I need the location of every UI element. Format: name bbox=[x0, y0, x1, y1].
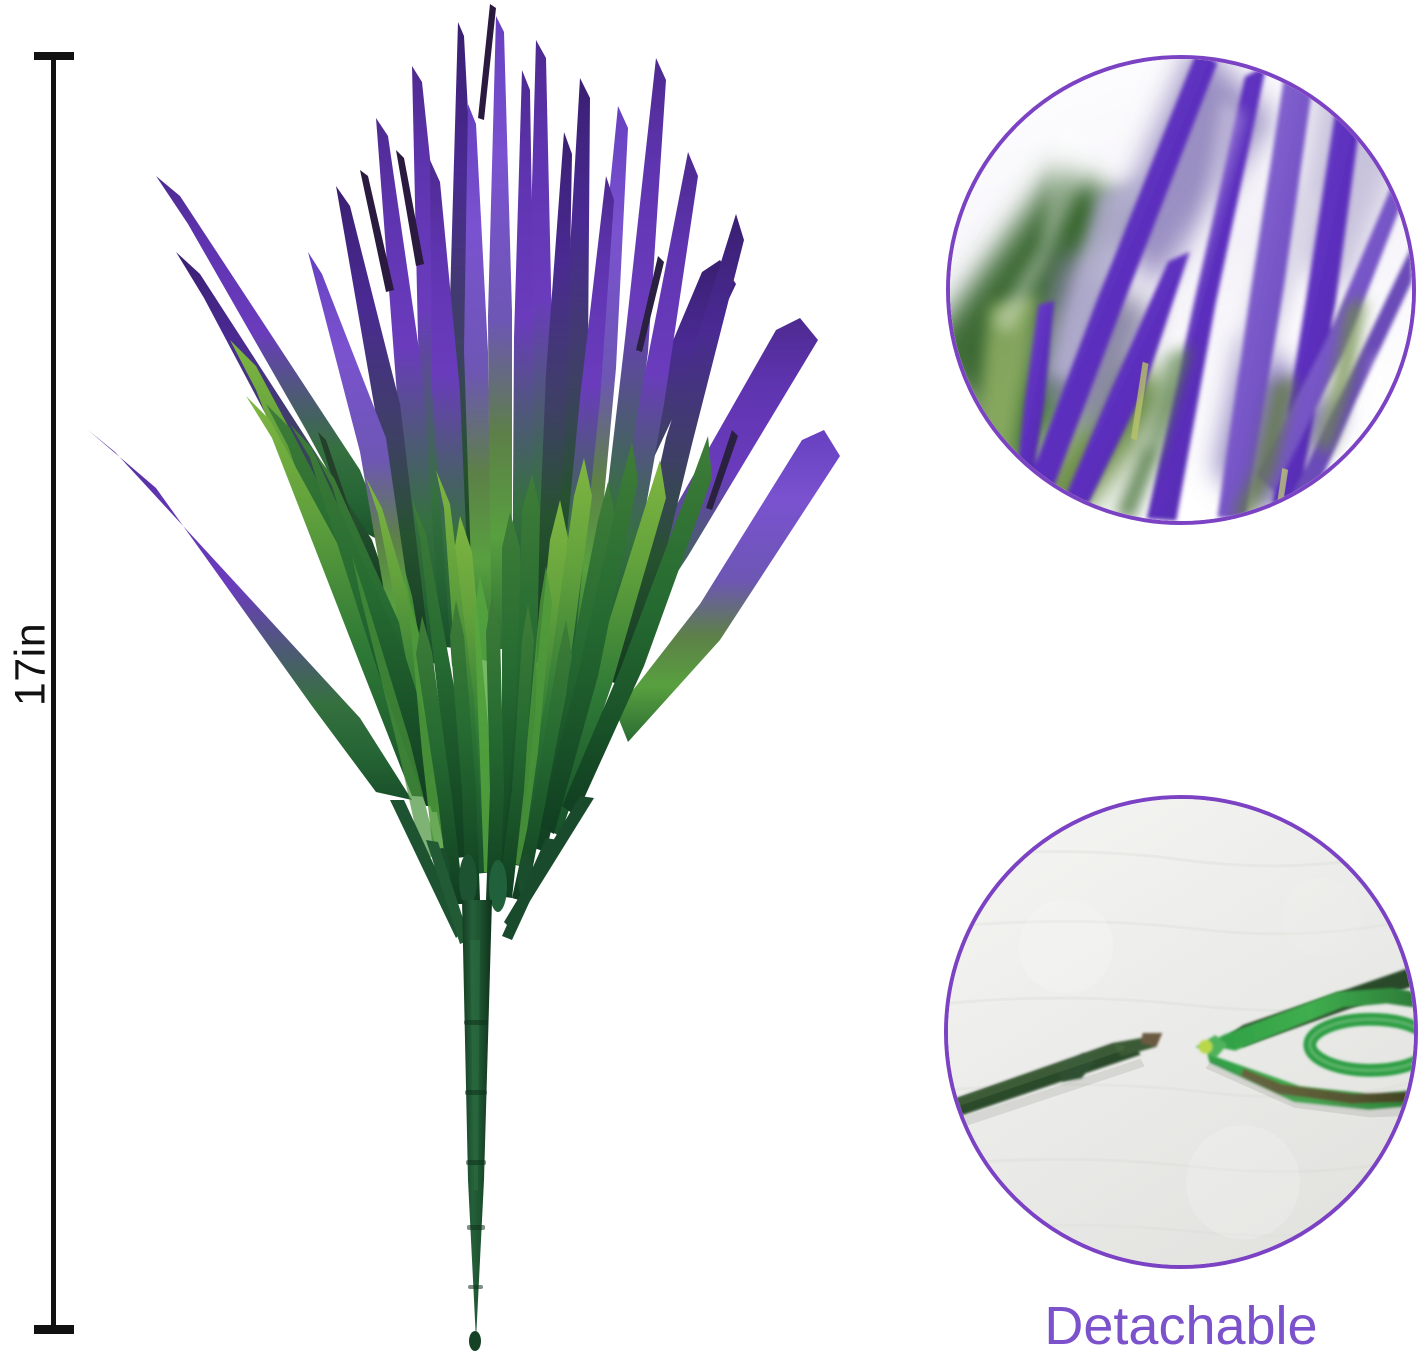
detail-detachable-circle bbox=[944, 795, 1418, 1269]
detail-closeup-circle bbox=[946, 55, 1416, 525]
product-photo bbox=[60, 0, 870, 1365]
detachable-caption: Detachable bbox=[944, 1295, 1418, 1357]
measurement-label: 17in bbox=[7, 610, 56, 720]
product-image-canvas: 17in bbox=[0, 0, 1426, 1365]
